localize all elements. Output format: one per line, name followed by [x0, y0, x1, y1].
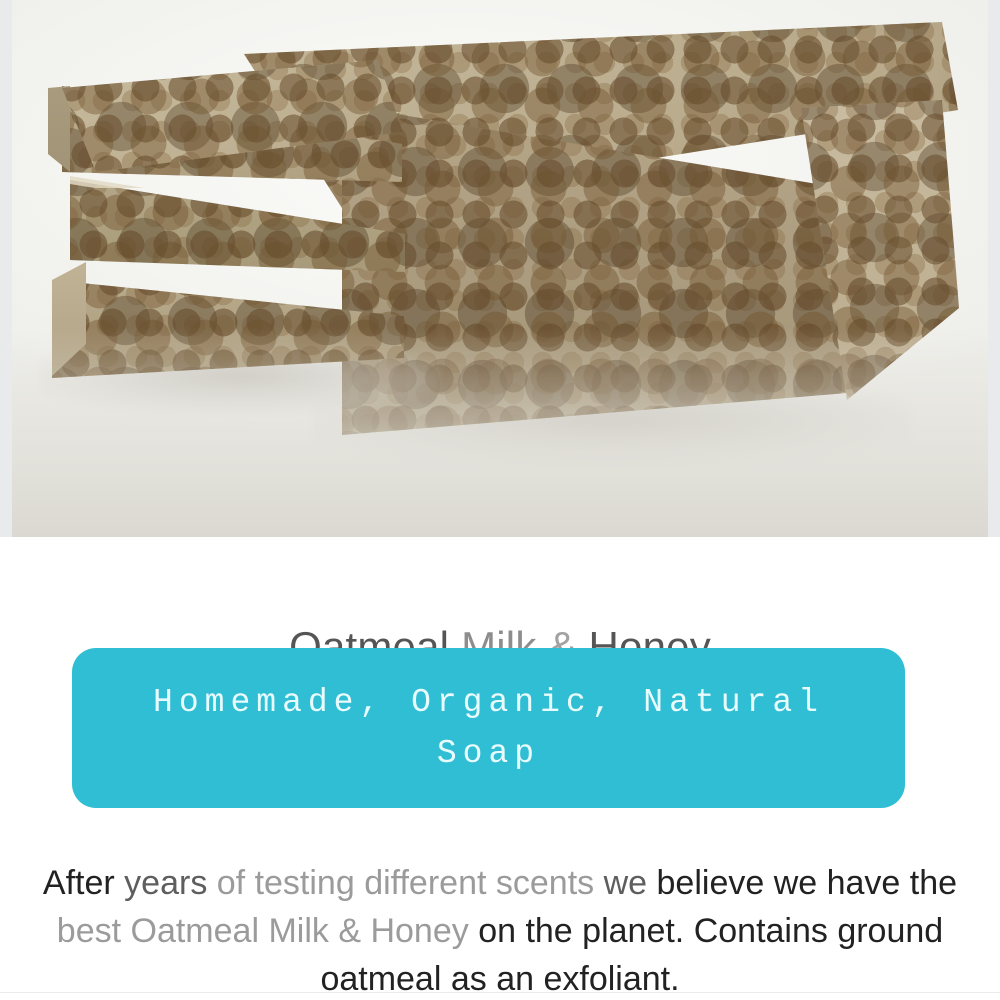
tagline-banner: Homemade, Organic, NaturalSoap — [72, 648, 905, 808]
tagline-line: Soap — [437, 735, 540, 772]
description-run: believe we have the — [657, 864, 958, 902]
description-run: years — [124, 864, 217, 902]
description-run: After — [43, 864, 124, 902]
description-run: best Oatmeal Milk & Honey — [57, 912, 478, 950]
product-card-page: Oatmeal Milk & Honey Homemade, Organic, … — [0, 0, 1000, 1000]
tagline-line: Homemade, Organic, Natural — [153, 684, 824, 721]
bottom-divider — [0, 992, 1000, 993]
photo-gutter-left — [0, 0, 12, 537]
product-details: Oatmeal Milk & Honey Homemade, Organic, … — [0, 537, 1000, 1000]
description-run: of testing different scents — [217, 864, 604, 902]
photo-floor-shading — [12, 327, 988, 537]
photo-gutter-right — [988, 0, 1000, 537]
tagline-text: Homemade, Organic, NaturalSoap — [153, 677, 824, 779]
product-photo-region[interactable] — [0, 0, 1000, 537]
product-photo[interactable] — [12, 0, 988, 537]
product-description: After years of testing different scents … — [0, 859, 1000, 1000]
description-run: we — [604, 864, 657, 902]
